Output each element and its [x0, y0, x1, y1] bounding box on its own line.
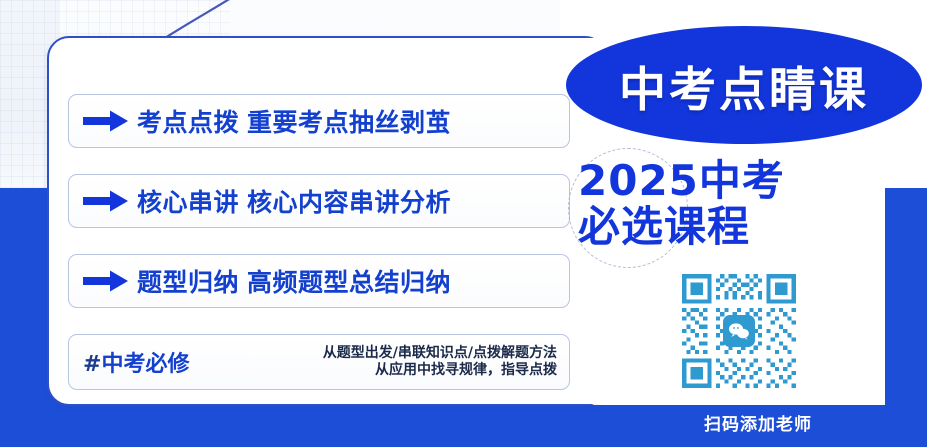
background-blue-right [885, 188, 927, 447]
qr-caption: 扫码添加老师 [678, 410, 838, 435]
tag-panel-title: #中考必修 [83, 346, 189, 378]
feature-row-2-desc: 核心内容串讲分析 [247, 188, 451, 217]
tag-panel-lines: 从题型出发/串联知识点/点拨解题方法 从应用中找寻规律，指导点拨 [199, 345, 557, 379]
feature-row-3-desc: 高频题型总结归纳 [247, 268, 451, 297]
wechat-icon [723, 315, 755, 347]
feature-row-2[interactable]: 核心串讲核心内容串讲分析 [68, 174, 570, 228]
feature-row-2-text: 核心串讲核心内容串讲分析 [137, 183, 451, 219]
hero-title-text: 中考点睛课 [619, 51, 869, 120]
poster-root: 考点点拨重要考点抽丝剥茧 核心串讲核心内容串讲分析 题型归纳高频题型总结归纳 #… [0, 0, 927, 447]
tag-panel-title-text: 中考必修 [101, 352, 189, 377]
feature-row-3-text: 题型归纳高频题型总结归纳 [137, 263, 451, 299]
feature-list: 考点点拨重要考点抽丝剥茧 核心串讲核心内容串讲分析 题型归纳高频题型总结归纳 [68, 94, 570, 334]
hash-symbol: # [83, 352, 101, 377]
arrow-right-icon [83, 269, 129, 293]
feature-row-1-text: 考点点拨重要考点抽丝剥茧 [137, 103, 451, 139]
hero-subtitle: 2025中考 必选课程 [578, 158, 878, 250]
feature-row-2-lead: 核心串讲 [137, 188, 239, 217]
qr-code[interactable] [678, 270, 800, 392]
arrow-right-icon [83, 189, 129, 213]
feature-row-1-desc: 重要考点抽丝剥茧 [247, 108, 451, 137]
feature-row-1[interactable]: 考点点拨重要考点抽丝剥茧 [68, 94, 570, 148]
feature-row-3-lead: 题型归纳 [137, 268, 239, 297]
hero-title-badge: 中考点睛课 [566, 26, 922, 144]
arrow-right-icon [83, 109, 129, 133]
hero-subtitle-line-2: 必选课程 [578, 204, 878, 250]
tag-panel-line-1: 从题型出发/串联知识点/点拨解题方法 [323, 345, 557, 362]
feature-row-1-lead: 考点点拨 [137, 108, 239, 137]
feature-row-3[interactable]: 题型归纳高频题型总结归纳 [68, 254, 570, 308]
hero-subtitle-line-1: 2025中考 [578, 156, 785, 205]
tag-panel-line-2: 从应用中找寻规律，指导点拨 [375, 362, 557, 379]
tag-panel[interactable]: #中考必修 从题型出发/串联知识点/点拨解题方法 从应用中找寻规律，指导点拨 [68, 334, 570, 390]
